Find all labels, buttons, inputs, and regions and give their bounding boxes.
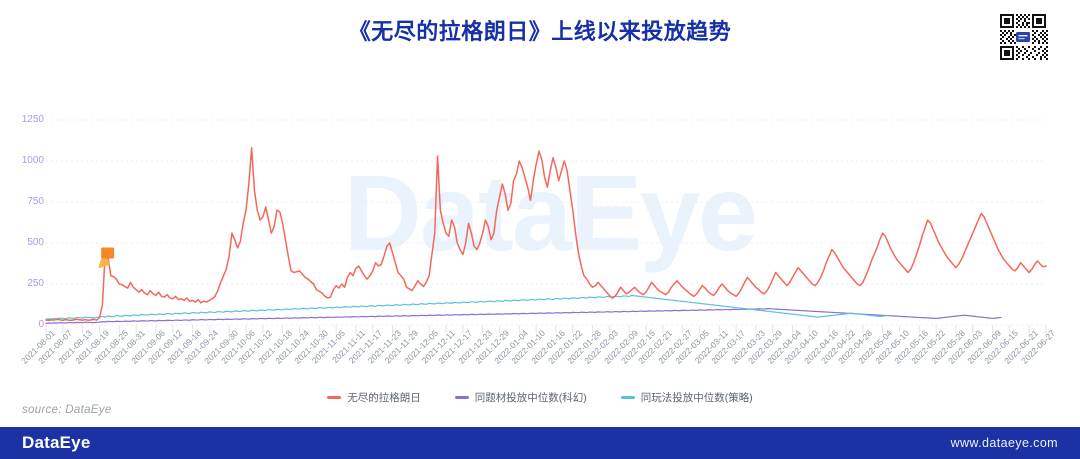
legend-label: 同题材投放中位数(科幻) [475,390,587,405]
launch-spike-highlight [98,247,114,268]
legend-item[interactable]: 无尽的拉格朗日 [327,390,421,405]
legend-color-swatch [621,396,635,399]
legend-label: 无尽的拉格朗日 [347,390,421,405]
qr-code-icon[interactable] [998,12,1048,62]
legend-item[interactable]: 同玩法投放中位数(策略) [621,390,753,405]
series-line-1 [46,309,1001,324]
footer-url[interactable]: www.dataeye.com [951,436,1058,450]
source-note: source: DataEye [22,404,112,416]
chart-plot-area [0,100,1080,340]
footer-logo: DataEye [22,433,91,453]
y-axis-label: 1000 [0,155,44,166]
legend-label: 同玩法投放中位数(策略) [641,390,753,405]
legend-color-swatch [327,396,341,399]
y-axis-label: 500 [0,237,44,248]
y-axis-label: 750 [0,196,44,207]
chart-legend: 无尽的拉格朗日同题材投放中位数(科幻)同玩法投放中位数(策略) [0,390,1080,405]
x-axis: 2021-08-012021-08-072021-08-132021-08-19… [0,328,1080,388]
y-axis-label: 1250 [0,114,44,125]
page-title: 《无尽的拉格朗日》上线以来投放趋势 [0,14,1080,46]
chart-svg [0,100,1080,340]
legend-item[interactable]: 同题材投放中位数(科幻) [455,390,587,405]
footer-bar: DataEye www.dataeye.com [0,427,1080,459]
legend-color-swatch [455,396,469,399]
series-line-0 [46,148,1046,321]
y-axis-label: 250 [0,278,44,289]
